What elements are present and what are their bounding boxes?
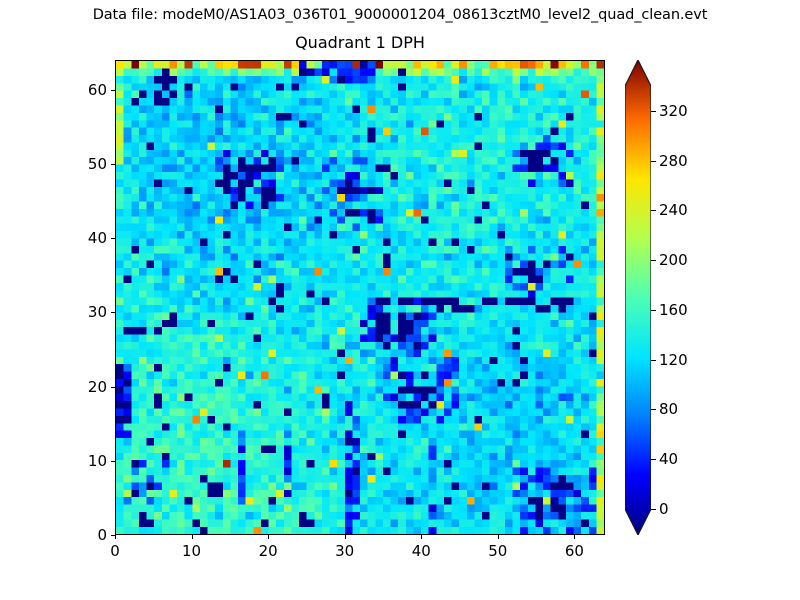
colorbar-tick-label: 120 xyxy=(659,351,688,369)
colorbar[interactable] xyxy=(625,60,651,535)
colorbar-tick-label: 160 xyxy=(659,301,688,319)
x-tick-label: 40 xyxy=(412,542,431,560)
y-tick-label: 50 xyxy=(63,155,107,173)
y-tick-label: 20 xyxy=(63,378,107,396)
x-tick-mark xyxy=(115,535,116,539)
y-tick-mark xyxy=(111,312,115,313)
y-tick-label: 60 xyxy=(63,81,107,99)
x-tick-mark xyxy=(574,535,575,539)
y-tick-label: 30 xyxy=(63,303,107,321)
colorbar-gradient xyxy=(625,60,651,535)
x-tick-label: 20 xyxy=(259,542,278,560)
y-tick-label: 40 xyxy=(63,229,107,247)
y-tick-mark xyxy=(111,535,115,536)
x-tick-label: 30 xyxy=(335,542,354,560)
detector-heatmap-image xyxy=(116,61,604,534)
colorbar-tick-mark xyxy=(651,260,656,261)
x-tick-mark xyxy=(498,535,499,539)
x-tick-mark xyxy=(192,535,193,539)
x-tick-label: 10 xyxy=(182,542,201,560)
data-file-label: Data file: modeM0/AS1A03_036T01_90000012… xyxy=(0,7,800,23)
colorbar-tick-mark xyxy=(651,161,656,162)
colorbar-tick-mark xyxy=(651,509,656,510)
x-tick-mark xyxy=(345,535,346,539)
y-tick-label: 0 xyxy=(63,526,107,544)
page-title: Quadrant 1 DPH xyxy=(115,33,605,52)
x-tick-mark xyxy=(421,535,422,539)
y-tick-mark xyxy=(111,238,115,239)
colorbar-tick-label: 40 xyxy=(659,450,678,468)
colorbar-tick-mark xyxy=(651,459,656,460)
y-tick-mark xyxy=(111,90,115,91)
colorbar-tick-mark xyxy=(651,210,656,211)
colorbar-tick-label: 200 xyxy=(659,251,688,269)
y-tick-label: 10 xyxy=(63,452,107,470)
colorbar-tick-label: 80 xyxy=(659,400,678,418)
x-tick-mark xyxy=(268,535,269,539)
colorbar-tick-label: 320 xyxy=(659,102,688,120)
x-tick-label: 60 xyxy=(565,542,584,560)
colorbar-tick-label: 240 xyxy=(659,201,688,219)
colorbar-tick-mark xyxy=(651,111,656,112)
colorbar-tick-label: 280 xyxy=(659,152,688,170)
colorbar-tick-mark xyxy=(651,409,656,410)
heatmap-axes[interactable] xyxy=(115,60,605,535)
y-tick-mark xyxy=(111,461,115,462)
colorbar-tick-mark xyxy=(651,310,656,311)
figure-canvas: Data file: modeM0/AS1A03_036T01_90000012… xyxy=(0,0,800,600)
y-tick-mark xyxy=(111,164,115,165)
x-tick-label: 50 xyxy=(488,542,507,560)
x-tick-label: 0 xyxy=(110,542,120,560)
y-tick-mark xyxy=(111,387,115,388)
colorbar-tick-mark xyxy=(651,360,656,361)
colorbar-tick-label: 0 xyxy=(659,500,669,518)
